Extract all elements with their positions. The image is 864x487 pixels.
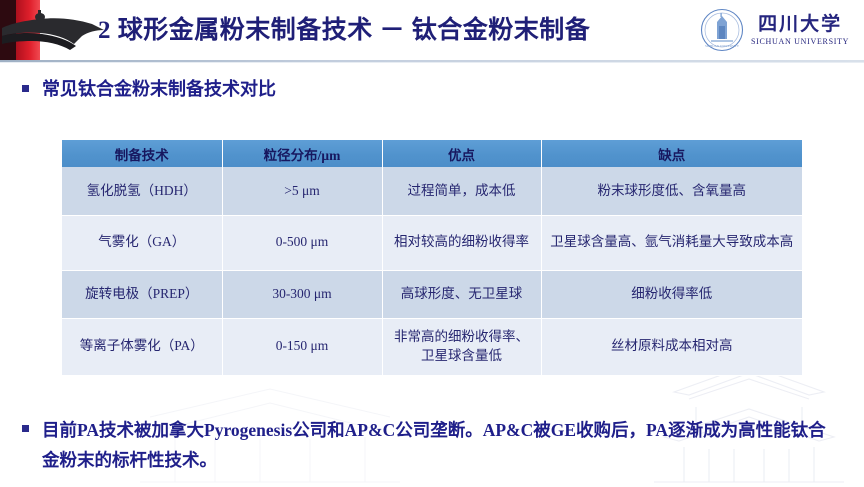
svg-text:SICHUAN UNIVERSITY: SICHUAN UNIVERSITY	[705, 44, 740, 48]
table-row: 旋转电极（PREP） 30-300 μm 高球形度、无卫星球 细粉收得率低	[62, 270, 802, 318]
logo-name-en: SICHUAN UNIVERSITY	[751, 37, 849, 47]
table-header-row: 制备技术 粒径分布/μm 优点 缺点	[62, 140, 802, 167]
table-row: 氢化脱氢（HDH） >5 μm 过程简单，成本低 粉末球形度低、含氧量高	[62, 167, 802, 215]
roof-silhouette-icon	[0, 0, 112, 61]
cell-cons: 丝材原料成本相对高	[541, 318, 802, 375]
powder-technique-comparison-table: 制备技术 粒径分布/μm 优点 缺点 氢化脱氢（HDH） >5 μm 过程简单，…	[62, 140, 802, 376]
page-title: 2 球形金属粉末制备技术 － 钛合金粉末制备	[98, 8, 698, 54]
university-logo: SICHUAN UNIVERSITY 四川大学 SICHUAN UNIVERSI…	[700, 4, 860, 56]
sichuan-university-seal-icon: SICHUAN UNIVERSITY	[700, 8, 744, 52]
bullet-top: 常见钛合金粉末制备技术对比	[22, 76, 722, 103]
pagoda-roof-decoration	[0, 0, 112, 61]
cell-technique: 氢化脱氢（HDH）	[62, 167, 222, 215]
cell-size: 30-300 μm	[222, 270, 382, 318]
cell-technique: 旋转电极（PREP）	[62, 270, 222, 318]
column-header-size: 粒径分布/μm	[222, 140, 382, 167]
cell-technique: 等离子体雾化（PA）	[62, 318, 222, 375]
cell-size: 0-150 μm	[222, 318, 382, 375]
cell-pros: 高球形度、无卫星球	[382, 270, 541, 318]
cell-pros: 过程简单，成本低	[382, 167, 541, 215]
bullet-square-icon	[22, 425, 29, 432]
cell-size: 0-500 μm	[222, 215, 382, 270]
bullet-bottom: 目前PA技术被加拿大Pyrogenesis公司和AP&C公司垄断。AP&C被GE…	[22, 416, 842, 476]
slide-header: 2 球形金属粉末制备技术 － 钛合金粉末制备 SICHUAN UNIVERSIT…	[0, 0, 864, 62]
cell-pros: 相对较高的细粉收得率	[382, 215, 541, 270]
cell-cons: 粉末球形度低、含氧量高	[541, 167, 802, 215]
cell-pros: 非常高的细粉收得率、卫星球含量低	[382, 318, 541, 375]
logo-name-cn: 四川大学	[758, 15, 842, 35]
column-header-cons: 缺点	[541, 140, 802, 167]
cell-cons: 细粉收得率低	[541, 270, 802, 318]
cell-size: >5 μm	[222, 167, 382, 215]
bullet-bottom-text: 目前PA技术被加拿大Pyrogenesis公司和AP&C公司垄断。AP&C被GE…	[42, 416, 842, 476]
bullet-top-text: 常见钛合金粉末制备技术对比	[42, 76, 276, 103]
cell-technique: 气雾化（GA）	[62, 215, 222, 270]
column-header-technique: 制备技术	[62, 140, 222, 167]
column-header-pros: 优点	[382, 140, 541, 167]
bullet-square-icon	[22, 85, 29, 92]
cell-cons: 卫星球含量高、氩气消耗量大导致成本高	[541, 215, 802, 270]
table-row: 等离子体雾化（PA） 0-150 μm 非常高的细粉收得率、卫星球含量低 丝材原…	[62, 318, 802, 375]
header-divider-shadow	[0, 62, 864, 63]
table-row: 气雾化（GA） 0-500 μm 相对较高的细粉收得率 卫星球含量高、氩气消耗量…	[62, 215, 802, 270]
